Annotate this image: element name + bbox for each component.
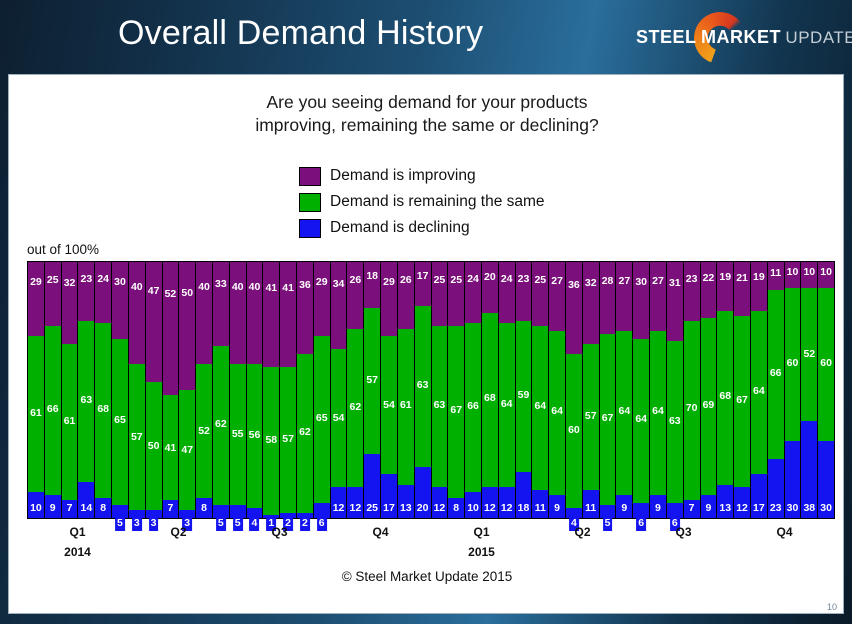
bar-segment-same: 57 — [129, 364, 145, 510]
bar-segment-improving: 25 — [532, 262, 548, 326]
bar-segment-declining: 9 — [650, 495, 666, 518]
bar-value-label: 30 — [635, 277, 647, 288]
bar-value-label: 40 — [232, 282, 244, 293]
legend-swatch-same — [299, 193, 321, 212]
logo-text-update: UPDATE — [785, 28, 852, 47]
bar-segment-improving: 52 — [163, 262, 179, 395]
bar-value-label: 68 — [97, 404, 109, 415]
bar-segment-declining: 11 — [532, 490, 548, 518]
legend-label-improving: Demand is improving — [330, 167, 476, 185]
copyright-notice: © Steel Market Update 2015 — [9, 569, 845, 584]
bar-segment-improving: 23 — [78, 262, 94, 321]
bar-segment-same: 62 — [297, 354, 313, 513]
chart-question-line-1: Are you seeing demand for your products — [9, 91, 845, 114]
bar-segment-declining: 14 — [78, 482, 94, 518]
bar-value-label: 31 — [669, 278, 681, 289]
bar-segment-improving: 19 — [717, 262, 733, 311]
bar-segment-same: 64 — [616, 331, 632, 495]
chart-question: Are you seeing demand for your products … — [9, 91, 845, 137]
table-row: 106030 — [785, 262, 802, 518]
bar-segment-declining: 2 — [280, 513, 296, 518]
bar-value-label: 57 — [282, 434, 294, 445]
bar-segment-same: 68 — [95, 323, 111, 497]
x-axis-quarter-label: Q4 — [372, 525, 388, 539]
bar-segment-same: 64 — [633, 339, 649, 503]
bar-segment-same: 66 — [768, 290, 784, 459]
bar-segment-declining: 9 — [616, 495, 632, 518]
bar-segment-declining: 5 — [112, 505, 128, 518]
bar-value-label: 25 — [434, 275, 446, 286]
bar-segment-same: 62 — [347, 329, 363, 488]
chart-question-line-2: improving, remaining the same or declini… — [9, 114, 845, 137]
x-axis-year-label: 2015 — [468, 545, 495, 559]
x-axis-quarter-label: Q3 — [271, 525, 287, 539]
bar-value-label: 59 — [518, 390, 530, 401]
bar-value-label: 63 — [434, 400, 446, 411]
bar-value-label: 33 — [215, 279, 227, 290]
bar-segment-improving: 21 — [734, 262, 750, 316]
bar-value-label: 64 — [534, 401, 546, 412]
bar-segment-declining: 11 — [583, 490, 599, 518]
table-row: 345412 — [331, 262, 348, 518]
bar-value-label: 62 — [215, 419, 227, 430]
table-row: 325711 — [583, 262, 600, 518]
bar-segment-declining: 13 — [717, 485, 733, 518]
bar-value-label: 65 — [114, 415, 126, 426]
legend-label-declining: Demand is declining — [330, 219, 470, 237]
bar-value-label: 54 — [383, 400, 395, 411]
bar-value-label: 40 — [131, 282, 143, 293]
bar-value-label: 30 — [787, 503, 799, 514]
bar-value-label: 60 — [787, 358, 799, 369]
bar-value-label: 52 — [198, 426, 210, 437]
bar-value-label: 41 — [165, 443, 177, 454]
bar-value-label: 69 — [703, 400, 715, 411]
bar-segment-improving: 41 — [280, 262, 296, 367]
table-row: 36604 — [566, 262, 583, 518]
bar-segment-same: 67 — [600, 334, 616, 506]
bar-value-label: 64 — [635, 414, 647, 425]
bar-segment-improving: 25 — [432, 262, 448, 326]
bar-value-label: 65 — [316, 413, 328, 424]
table-row: 31636 — [667, 262, 684, 518]
bar-value-label: 70 — [686, 403, 698, 414]
bar-value-label: 27 — [652, 276, 664, 287]
bar-value-label: 50 — [148, 441, 160, 452]
bar-value-label: 68 — [719, 391, 731, 402]
bar-value-label: 11 — [770, 268, 781, 279]
table-row: 36622 — [297, 262, 314, 518]
bar-value-label: 9 — [621, 503, 627, 514]
bar-segment-improving: 29 — [381, 262, 397, 336]
steel-market-update-logo: STEEL MARKET UPDATE — [636, 10, 844, 66]
bar-value-label: 61 — [30, 408, 42, 419]
bar-value-label: 9 — [705, 503, 711, 514]
bar-value-label: 14 — [81, 503, 93, 514]
table-row: 23707 — [684, 262, 701, 518]
legend-item-same: Demand is remaining the same — [299, 189, 545, 215]
bar-segment-declining: 5 — [600, 505, 616, 518]
bar-segment-same: 67 — [448, 326, 464, 498]
bar-value-label: 7 — [67, 503, 73, 514]
bar-value-label: 56 — [249, 430, 261, 441]
bar-value-label: 30 — [114, 277, 126, 288]
bar-value-label: 63 — [417, 380, 429, 391]
bar-value-label: 23 — [770, 503, 782, 514]
bar-value-label: 17 — [417, 271, 429, 282]
logo-wordmark: STEEL MARKET UPDATE — [636, 27, 844, 48]
x-axis-quarter-label: Q1 — [69, 525, 85, 539]
table-row: 216712 — [734, 262, 751, 518]
bar-segment-same: 63 — [432, 326, 448, 487]
bar-value-label: 61 — [64, 416, 76, 427]
bar-value-label: 52 — [803, 349, 815, 360]
bar-segment-improving: 32 — [62, 262, 78, 344]
bar-value-label: 19 — [753, 272, 765, 283]
bar-value-label: 19 — [719, 272, 731, 283]
bar-value-label: 64 — [753, 386, 765, 397]
bar-segment-improving: 19 — [751, 262, 767, 311]
table-row: 25669 — [45, 262, 62, 518]
bar-value-label: 12 — [350, 503, 362, 514]
content-panel: Are you seeing demand for your products … — [8, 74, 844, 614]
bar-value-label: 61 — [400, 400, 412, 411]
stacked-bar-chart: 2961102566932617236314246883065540573475… — [27, 261, 835, 519]
table-row: 29656 — [314, 262, 331, 518]
table-row: 30655 — [112, 262, 129, 518]
bar-segment-declining: 7 — [163, 500, 179, 518]
bar-value-label: 8 — [201, 503, 207, 514]
table-row: 185725 — [364, 262, 381, 518]
bar-segment-same: 52 — [801, 288, 817, 421]
table-row: 266212 — [347, 262, 364, 518]
bar-value-label: 9 — [50, 503, 56, 514]
bar-value-label: 27 — [619, 276, 631, 287]
bar-value-label: 10 — [803, 267, 815, 278]
bar-segment-same: 69 — [701, 318, 717, 495]
bar-segment-same: 62 — [213, 346, 229, 505]
table-row: 296110 — [28, 262, 45, 518]
bar-segment-improving: 36 — [297, 262, 313, 354]
bar-segment-improving: 17 — [415, 262, 431, 306]
bar-segment-declining: 4 — [247, 508, 263, 518]
bar-segment-improving: 40 — [247, 262, 263, 364]
table-row: 176320 — [415, 262, 432, 518]
table-row: 47503 — [146, 262, 163, 518]
bar-value-label: 67 — [736, 395, 748, 406]
table-row: 206812 — [482, 262, 499, 518]
legend-item-improving: Demand is improving — [299, 163, 545, 189]
bar-segment-declining: 17 — [751, 474, 767, 518]
bar-value-label: 34 — [333, 279, 345, 290]
bar-segment-improving: 24 — [499, 262, 515, 323]
bar-segment-improving: 30 — [633, 262, 649, 339]
table-row: 116623 — [768, 262, 785, 518]
table-row: 105238 — [801, 262, 818, 518]
bar-value-label: 20 — [417, 503, 429, 514]
bar-segment-declining: 5 — [230, 505, 246, 518]
bar-value-label: 10 — [30, 503, 42, 514]
bar-segment-same: 61 — [62, 344, 78, 500]
table-row: 40555 — [230, 262, 247, 518]
bar-value-label: 28 — [602, 276, 614, 287]
bar-segment-improving: 18 — [364, 262, 380, 308]
bar-segment-same: 67 — [734, 316, 750, 488]
bar-segment-improving: 10 — [785, 262, 801, 288]
bar-value-label: 29 — [316, 277, 328, 288]
bar-value-label: 8 — [100, 503, 106, 514]
bar-segment-same: 66 — [45, 326, 61, 495]
bar-segment-same: 59 — [516, 321, 532, 472]
table-row: 32617 — [62, 262, 79, 518]
bar-value-label: 57 — [366, 375, 378, 386]
bar-value-label: 67 — [602, 413, 614, 424]
bar-value-label: 7 — [167, 503, 173, 514]
bar-segment-improving: 29 — [314, 262, 330, 336]
bar-segment-improving: 24 — [95, 262, 111, 323]
bar-segment-same: 41 — [163, 395, 179, 500]
bar-value-label: 29 — [383, 277, 395, 288]
page-title: Overall Demand History — [118, 14, 483, 53]
bar-value-label: 40 — [198, 282, 210, 293]
bar-value-label: 8 — [453, 503, 459, 514]
bar-segment-same: 64 — [549, 331, 565, 495]
bar-segment-same: 65 — [314, 336, 330, 502]
bar-segment-declining: 30 — [785, 441, 801, 518]
bar-segment-improving: 33 — [213, 262, 229, 346]
bar-value-label: 47 — [148, 286, 160, 297]
bar-segment-declining: 25 — [364, 454, 380, 518]
bar-value-label: 23 — [81, 274, 93, 285]
bar-segment-same: 70 — [684, 321, 700, 500]
legend-swatch-declining — [299, 219, 321, 238]
slide-header: Overall Demand History STEEL MARKET UPDA… — [0, 0, 852, 74]
bar-segment-same: 57 — [583, 344, 599, 490]
bar-segment-improving: 47 — [146, 262, 162, 382]
table-row: 40528 — [196, 262, 213, 518]
bar-segment-declining: 23 — [768, 459, 784, 518]
bar-value-label: 12 — [484, 503, 496, 514]
bar-segment-declining: 8 — [95, 498, 111, 518]
bar-value-label: 60 — [568, 425, 580, 436]
bar-segment-declining: 9 — [701, 495, 717, 518]
bar-segment-improving: 20 — [482, 262, 498, 313]
legend-label-same: Demand is remaining the same — [330, 193, 545, 211]
bar-segment-improving: 22 — [701, 262, 717, 318]
bar-segment-improving: 50 — [179, 262, 195, 390]
bar-segment-same: 57 — [280, 367, 296, 513]
bar-segment-improving: 23 — [684, 262, 700, 321]
bar-value-label: 60 — [820, 358, 832, 369]
bar-value-label: 66 — [467, 401, 479, 412]
bar-segment-same: 61 — [398, 329, 414, 485]
x-axis-quarter-label: Q3 — [675, 525, 691, 539]
bar-segment-same: 65 — [112, 339, 128, 505]
table-row: 40564 — [247, 262, 264, 518]
bar-segment-same: 60 — [566, 354, 582, 508]
bar-value-label: 18 — [366, 271, 378, 282]
bar-segment-declining: 10 — [28, 492, 44, 518]
legend-item-declining: Demand is declining — [299, 215, 545, 241]
bar-value-label: 11 — [585, 503, 596, 514]
bar-segment-declining: 3 — [129, 510, 145, 518]
bar-value-label: 36 — [568, 280, 580, 291]
table-row: 52417 — [163, 262, 180, 518]
bar-segment-same: 52 — [196, 364, 212, 497]
bar-value-label: 11 — [535, 503, 546, 514]
bar-value-label: 57 — [131, 432, 143, 443]
bar-value-label: 22 — [703, 273, 715, 284]
bar-value-label: 52 — [165, 289, 177, 300]
bar-segment-same: 64 — [532, 326, 548, 490]
bar-value-label: 41 — [265, 283, 277, 294]
bar-segment-improving: 10 — [818, 262, 834, 288]
bar-segment-same: 64 — [650, 331, 666, 495]
bar-segment-same: 66 — [465, 323, 481, 492]
bar-segment-improving: 29 — [28, 262, 44, 336]
bar-segment-declining: 13 — [398, 485, 414, 518]
table-row: 256312 — [432, 262, 449, 518]
bar-value-label: 9 — [655, 503, 661, 514]
bar-value-label: 32 — [585, 278, 597, 289]
bar-segment-same: 63 — [78, 321, 94, 482]
bar-value-label: 64 — [619, 406, 631, 417]
table-row: 27649 — [549, 262, 566, 518]
table-row: 236314 — [78, 262, 95, 518]
legend-swatch-improving — [299, 167, 321, 186]
bar-value-label: 23 — [518, 274, 530, 285]
bar-value-label: 40 — [249, 282, 261, 293]
table-row: 41581 — [263, 262, 280, 518]
bar-segment-same: 57 — [364, 308, 380, 454]
table-row: 256411 — [532, 262, 549, 518]
bar-segment-improving: 27 — [549, 262, 565, 331]
bar-segment-same: 58 — [263, 367, 279, 515]
bar-segment-declining: 5 — [213, 505, 229, 518]
bar-value-label: 10 — [467, 503, 479, 514]
bar-segment-same: 63 — [415, 306, 431, 467]
bar-value-label: 25 — [47, 275, 59, 286]
bar-value-label: 12 — [501, 503, 513, 514]
x-axis-quarter-label: Q1 — [473, 525, 489, 539]
bar-value-label: 38 — [803, 503, 815, 514]
bar-value-label: 58 — [265, 435, 277, 446]
bar-value-label: 67 — [450, 405, 462, 416]
table-row: 196813 — [717, 262, 734, 518]
table-row: 235918 — [516, 262, 533, 518]
bar-value-label: 13 — [400, 503, 412, 514]
bar-segment-improving: 41 — [263, 262, 279, 367]
table-row: 22699 — [701, 262, 718, 518]
table-row: 28675 — [600, 262, 617, 518]
bar-segment-same: 56 — [247, 364, 263, 507]
bar-segment-same: 64 — [499, 323, 515, 487]
bar-segment-declining: 6 — [667, 503, 683, 518]
bar-segment-improving: 40 — [196, 262, 212, 364]
bar-value-label: 63 — [669, 416, 681, 427]
bar-segment-declining: 3 — [179, 510, 195, 518]
bar-value-label: 23 — [686, 274, 698, 285]
table-row: 266113 — [398, 262, 415, 518]
bar-value-label: 50 — [181, 288, 193, 299]
bar-value-label: 17 — [383, 503, 395, 514]
bar-segment-declining: 12 — [482, 487, 498, 518]
bar-segment-declining: 9 — [45, 495, 61, 518]
bar-value-label: 63 — [81, 395, 93, 406]
bar-value-label: 13 — [719, 503, 731, 514]
bar-value-label: 12 — [434, 503, 446, 514]
bar-segment-improving: 10 — [801, 262, 817, 288]
bar-value-label: 26 — [350, 275, 362, 286]
bar-segment-declining: 12 — [347, 487, 363, 518]
table-row: 27649 — [650, 262, 667, 518]
bar-segment-improving: 24 — [465, 262, 481, 323]
bar-segment-declining: 12 — [734, 487, 750, 518]
bar-segment-declining: 7 — [62, 500, 78, 518]
bar-segment-declining: 38 — [801, 421, 817, 518]
bar-value-label: 24 — [501, 274, 513, 285]
y-axis-note: out of 100% — [27, 242, 99, 257]
table-row: 246412 — [499, 262, 516, 518]
table-row: 33625 — [213, 262, 230, 518]
bar-segment-same: 63 — [667, 341, 683, 502]
chart-legend: Demand is improvingDemand is remaining t… — [299, 163, 545, 241]
bar-value-label: 30 — [820, 503, 832, 514]
table-row: 41572 — [280, 262, 297, 518]
bar-segment-declining: 9 — [549, 495, 565, 518]
bar-value-label: 47 — [181, 445, 193, 456]
x-axis-quarter-label: Q2 — [170, 525, 186, 539]
bar-value-label: 41 — [282, 283, 294, 294]
bar-segment-same: 50 — [146, 382, 162, 510]
bar-value-label: 29 — [30, 277, 42, 288]
bar-segment-declining: 6 — [633, 503, 649, 518]
bar-segment-improving: 40 — [230, 262, 246, 364]
bar-segment-improving: 34 — [331, 262, 347, 349]
bar-segment-improving: 26 — [398, 262, 414, 329]
bar-segment-declining: 18 — [516, 472, 532, 518]
bar-value-label: 12 — [333, 503, 345, 514]
bar-segment-improving: 27 — [616, 262, 632, 331]
table-row: 196417 — [751, 262, 768, 518]
bar-value-label: 57 — [585, 411, 597, 422]
table-row: 24688 — [95, 262, 112, 518]
bar-segment-declining: 8 — [196, 498, 212, 518]
bar-segment-improving: 26 — [347, 262, 363, 329]
table-row: 30646 — [633, 262, 650, 518]
bar-value-label: 62 — [299, 427, 311, 438]
x-axis-quarter-label: Q4 — [776, 525, 792, 539]
bar-value-label: 64 — [652, 406, 664, 417]
table-row: 25678 — [448, 262, 465, 518]
x-axis-quarter-label: Q2 — [574, 525, 590, 539]
table-row: 106030 — [818, 262, 834, 518]
bar-value-label: 68 — [484, 393, 496, 404]
bar-value-label: 55 — [232, 429, 244, 440]
bar-value-label: 21 — [736, 273, 748, 284]
bar-segment-improving: 25 — [448, 262, 464, 326]
x-axis-year-label: 2014 — [64, 545, 91, 559]
bar-segment-improving: 27 — [650, 262, 666, 331]
bar-segment-same: 55 — [230, 364, 246, 505]
bar-segment-same: 54 — [331, 349, 347, 487]
bar-value-label: 27 — [551, 276, 563, 287]
bar-segment-same: 61 — [28, 336, 44, 492]
bar-segment-declining: 10 — [465, 492, 481, 518]
bar-value-label: 9 — [554, 503, 560, 514]
bar-value-label: 12 — [736, 503, 748, 514]
bar-value-label: 25 — [534, 275, 546, 286]
